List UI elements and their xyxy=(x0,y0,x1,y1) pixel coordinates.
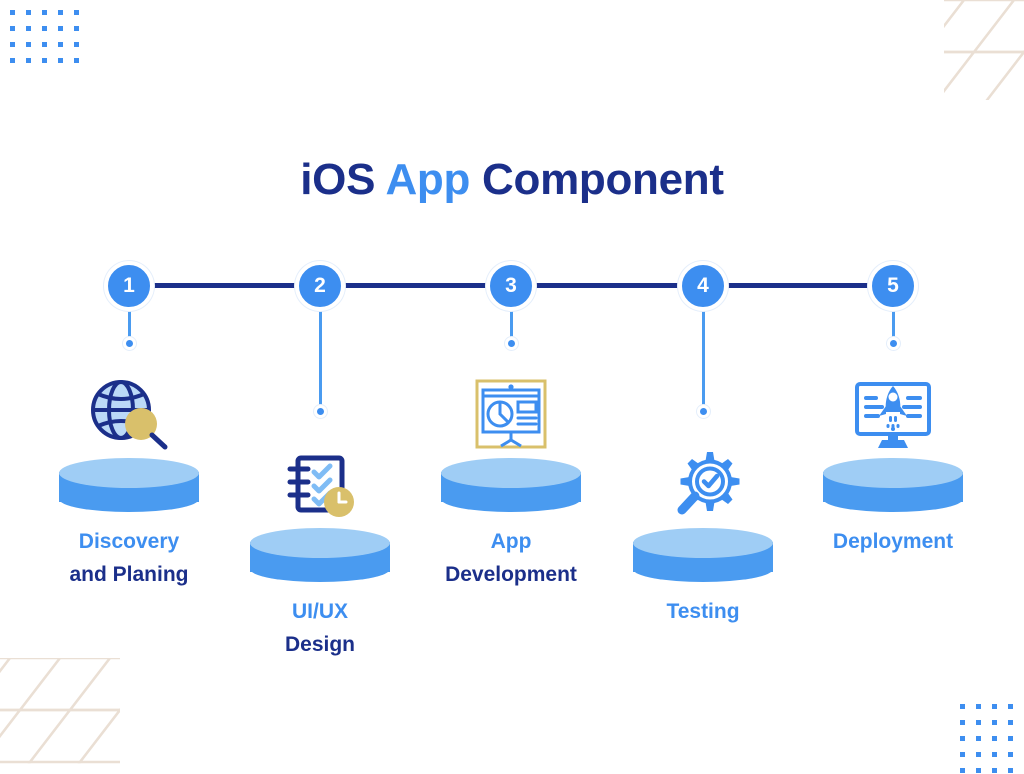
title-part-1: iOS xyxy=(300,155,385,204)
step-2-label: UI/UX Design xyxy=(200,596,440,661)
page-title: iOS App Component xyxy=(0,155,1024,205)
dot xyxy=(10,10,15,15)
dot xyxy=(42,58,47,63)
dot-grid-top-left-decoration xyxy=(0,0,64,94)
step-1-pedestal xyxy=(59,456,199,512)
dot xyxy=(992,704,997,709)
step-5-label-line-1: Deployment xyxy=(773,526,1013,559)
drop-dot-5 xyxy=(887,337,900,350)
drop-dot-4 xyxy=(697,405,710,418)
timeline-node-1-number: 1 xyxy=(123,274,135,297)
dot xyxy=(58,10,63,15)
diagonal-lines-bottom-left-decoration xyxy=(0,658,120,768)
presentation-chart-icon xyxy=(472,378,550,452)
dot xyxy=(1008,720,1013,725)
dot xyxy=(976,768,981,773)
dot-grid-bottom-right-decoration xyxy=(960,704,1024,774)
dot xyxy=(992,768,997,773)
step-2-label-line-1: UI/UX xyxy=(200,596,440,629)
dot xyxy=(26,10,31,15)
dot xyxy=(74,58,79,63)
dot xyxy=(74,42,79,47)
step-2-label-line-2: Design xyxy=(200,629,440,662)
dot xyxy=(58,26,63,31)
step-5-pedestal xyxy=(823,456,963,512)
timeline-node-5[interactable]: 5 xyxy=(868,261,918,311)
title-accent-word: App xyxy=(385,155,470,204)
step-5-deployment[interactable]: Deployment xyxy=(773,366,1013,559)
dot xyxy=(42,10,47,15)
dot xyxy=(10,42,15,47)
globe-search-icon xyxy=(85,376,173,452)
step-5-icon-wrap xyxy=(773,366,1013,452)
dot xyxy=(58,42,63,47)
dot xyxy=(58,58,63,63)
timeline-node-3[interactable]: 3 xyxy=(486,261,536,311)
dot xyxy=(960,720,965,725)
dot xyxy=(1008,704,1013,709)
dot xyxy=(10,58,15,63)
dot xyxy=(976,704,981,709)
step-4-label-line-1: Testing xyxy=(583,596,823,629)
dot xyxy=(992,720,997,725)
dot xyxy=(26,26,31,31)
dot xyxy=(960,752,965,757)
dot xyxy=(42,26,47,31)
step-2-pedestal xyxy=(250,526,390,582)
timeline-node-3-number: 3 xyxy=(505,274,517,297)
infographic-canvas: iOS App Component 1 2 3 4 5 xyxy=(0,0,1024,768)
dot xyxy=(976,752,981,757)
dot xyxy=(74,26,79,31)
dot xyxy=(26,42,31,47)
step-4-label: Testing xyxy=(583,596,823,629)
timeline-node-2-number: 2 xyxy=(314,274,326,297)
dot xyxy=(992,752,997,757)
drop-dot-3 xyxy=(505,337,518,350)
diagonal-lines-top-right-decoration xyxy=(944,0,1024,100)
dot xyxy=(960,736,965,741)
drop-dot-2 xyxy=(314,405,327,418)
dot xyxy=(26,58,31,63)
dot xyxy=(960,704,965,709)
dot xyxy=(1008,736,1013,741)
title-part-2: Component xyxy=(470,155,724,204)
dot xyxy=(976,736,981,741)
dot xyxy=(42,42,47,47)
timeline-node-2[interactable]: 2 xyxy=(295,261,345,311)
step-4-pedestal xyxy=(633,526,773,582)
timeline-node-1[interactable]: 1 xyxy=(104,261,154,311)
dot xyxy=(960,768,965,773)
dot xyxy=(1008,752,1013,757)
dot xyxy=(976,720,981,725)
dot xyxy=(10,26,15,31)
gear-magnifier-check-icon xyxy=(665,450,741,522)
timeline-node-5-number: 5 xyxy=(887,274,899,297)
dot xyxy=(74,10,79,15)
dot xyxy=(1008,768,1013,773)
step-3-pedestal xyxy=(441,456,581,512)
monitor-rocket-icon xyxy=(852,378,934,452)
timeline-node-4[interactable]: 4 xyxy=(678,261,728,311)
step-5-label: Deployment xyxy=(773,526,1013,559)
drop-dot-1 xyxy=(123,337,136,350)
timeline-node-4-number: 4 xyxy=(697,274,709,297)
dot xyxy=(992,736,997,741)
notebook-checklist-clock-icon xyxy=(284,452,356,522)
